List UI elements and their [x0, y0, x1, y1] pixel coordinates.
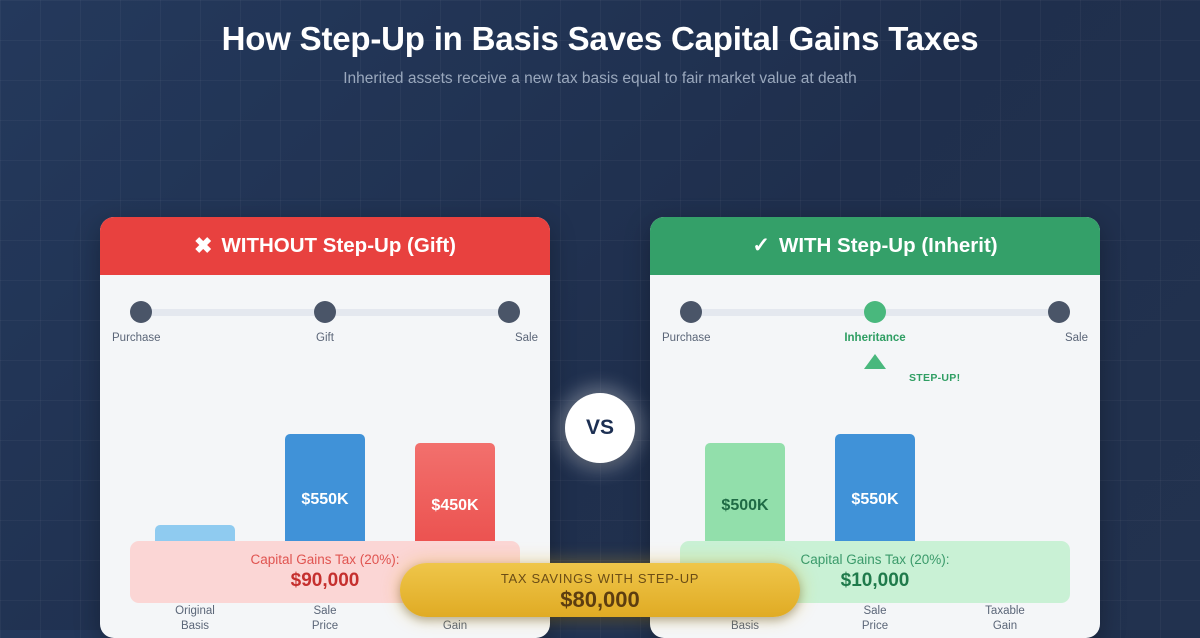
timeline-label-inheritance: Inheritance [844, 332, 905, 344]
timeline-without [130, 301, 520, 323]
timeline-label-sale: Sale [1065, 332, 1088, 344]
timeline-label-gift: Gift [316, 332, 334, 344]
bar-label-sale-price: Sale Price [815, 604, 935, 636]
stepup-badge-label: STEP-UP! [909, 372, 960, 384]
bar-label-original-basis-line2: Basis [135, 619, 255, 634]
stepup-indicator: STEP-UP! [650, 354, 1100, 388]
savings-label: TAX SAVINGS WITH STEP-UP [400, 571, 800, 587]
bar-label-sale-price-line1: Sale [815, 604, 935, 619]
savings-amount: $80,000 [400, 587, 800, 613]
timeline-node-inheritance [864, 301, 886, 323]
timeline-node-purchase [130, 301, 152, 323]
timeline-labels-without: Purchase Gift Sale [130, 332, 520, 348]
timeline-labels-with: Purchase Inheritance Sale [680, 332, 1070, 348]
bar-label-sale-price-line2: Price [265, 619, 385, 634]
panel-with-header: ✓ WITH Step-Up (Inherit) [650, 217, 1100, 275]
panel-with-title: WITH Step-Up (Inherit) [779, 234, 998, 258]
check-icon: ✓ [752, 235, 770, 256]
timeline-label-sale: Sale [515, 332, 538, 344]
timeline-with [680, 301, 1070, 323]
bar-label-taxable-gain-line2: Gain [395, 619, 515, 634]
header: How Step-Up in Basis Saves Capital Gains… [0, 0, 1200, 88]
bar-value-stepped-up-basis: $500K [721, 497, 768, 515]
timeline-node-sale [498, 301, 520, 323]
timeline-label-purchase: Purchase [662, 332, 711, 344]
timeline-node-purchase [680, 301, 702, 323]
bar-value-sale-price: $550K [301, 491, 348, 509]
bar-value-sale-price: $550K [851, 491, 898, 509]
timeline-label-purchase: Purchase [112, 332, 161, 344]
versus-badge: VS [565, 393, 635, 463]
bar-label-taxable-gain-line2: Gain [945, 619, 1065, 634]
bar-label-original-basis: Original Basis [135, 604, 255, 636]
bar-value-taxable-gain: $450K [431, 497, 478, 515]
page-title: How Step-Up in Basis Saves Capital Gains… [0, 19, 1200, 59]
cross-icon: ✖ [194, 235, 212, 257]
bar-label-taxable-gain-line1: Taxable [945, 604, 1065, 619]
panel-without-header: ✖ WITHOUT Step-Up (Gift) [100, 217, 550, 275]
up-arrow-icon [864, 354, 886, 369]
bar-label-taxable-gain: Taxable Gain [945, 604, 1065, 636]
bar-label-stepped-up-basis-line2: Basis [685, 619, 805, 634]
panel-without-title: WITHOUT Step-Up (Gift) [221, 234, 456, 258]
bar-label-sale-price-line1: Sale [265, 604, 385, 619]
timeline-node-sale [1048, 301, 1070, 323]
timeline-node-gift [314, 301, 336, 323]
bar-label-original-basis-line1: Original [135, 604, 255, 619]
bar-label-sale-price-line2: Price [815, 619, 935, 634]
savings-banner: TAX SAVINGS WITH STEP-UP $80,000 [400, 563, 800, 617]
page-subtitle: Inherited assets receive a new tax basis… [0, 70, 1200, 88]
bar-label-sale-price: Sale Price [265, 604, 385, 636]
